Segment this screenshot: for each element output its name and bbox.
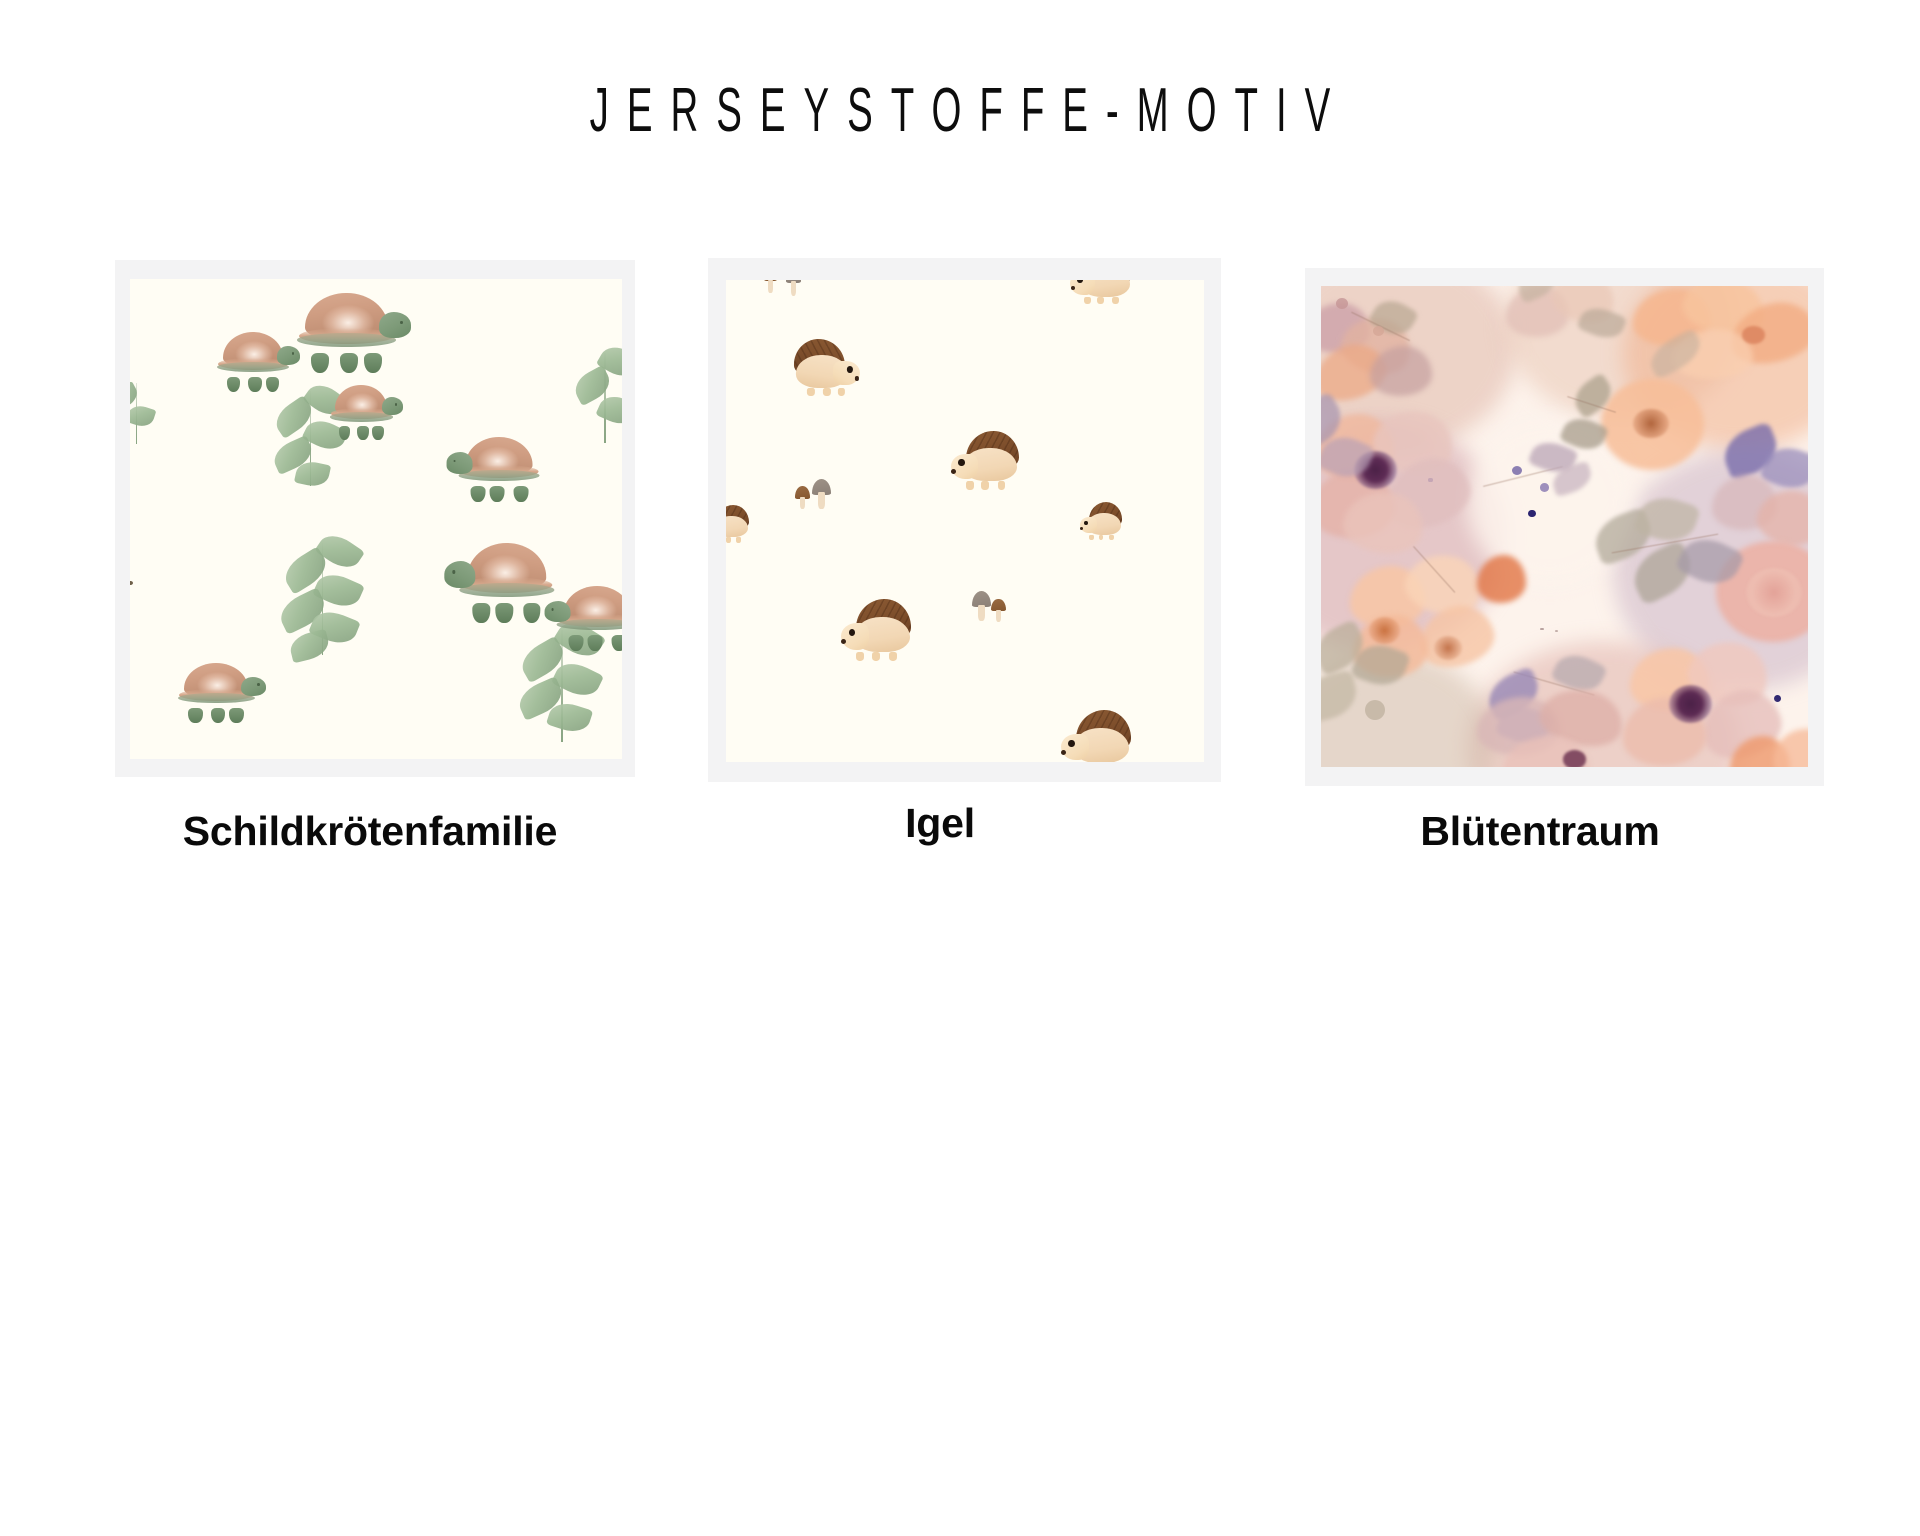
turtle-motif xyxy=(292,293,400,370)
hedgehog-motif xyxy=(793,338,860,396)
pattern-watercolor-hedgehogs xyxy=(726,280,1204,762)
pattern-watercolor-florals xyxy=(1321,286,1808,767)
swatch-image-schildkroetenfamilie xyxy=(130,279,622,759)
flower-cluster xyxy=(1506,286,1642,373)
flower-bud xyxy=(1477,555,1526,603)
paint-speck xyxy=(1428,478,1432,481)
hedgehog-motif xyxy=(841,598,913,661)
turtle-motif xyxy=(174,663,258,721)
swatch-image-bluetentraum xyxy=(1321,286,1808,767)
page-title: JERSEYSTOFFE-MOTIV xyxy=(365,78,1555,143)
swatch-tile-igel[interactable] xyxy=(708,258,1221,782)
swatch-label-bluetentraum: Blütentraum xyxy=(1160,808,1920,855)
swatch-tile-schildkroetenfamilie[interactable] xyxy=(115,260,635,777)
eucalyptus-sprig xyxy=(130,375,160,452)
anemone-flower xyxy=(1594,373,1711,479)
eucalyptus-leaf-group xyxy=(1321,623,1428,748)
swatch-tile-bluetentraum[interactable] xyxy=(1305,268,1824,786)
hedgehog-motif xyxy=(1070,280,1132,304)
pattern-watercolor-turtles xyxy=(130,279,622,759)
berry-dot xyxy=(1528,510,1536,518)
turtle-motif xyxy=(553,586,622,648)
swatch-image-igel xyxy=(726,280,1204,762)
eucalyptus-leaf-group xyxy=(1594,498,1740,623)
hedgehog-motif xyxy=(951,429,1020,489)
paint-speck xyxy=(1555,630,1558,632)
paint-speck xyxy=(1540,628,1543,630)
mushroom-motif xyxy=(786,280,801,294)
hedgehog-motif xyxy=(726,504,750,543)
swatch-label-igel: Igel xyxy=(700,800,1180,847)
hedgehog-motif xyxy=(1061,709,1133,762)
turtle-motif xyxy=(214,332,293,390)
swatch-label-schildkroetenfamilie: Schildkrötenfamilie xyxy=(0,808,740,855)
eucalyptus-sprig xyxy=(573,346,622,452)
turtle-motif xyxy=(455,543,558,620)
flower-cluster xyxy=(1730,729,1808,767)
mushroom-motif xyxy=(991,599,1005,621)
turtle-motif xyxy=(327,385,396,438)
page-root: JERSEYSTOFFE-MOTIV xyxy=(0,0,1920,1536)
mushroom-motif xyxy=(795,486,809,508)
turtle-motif xyxy=(455,437,544,499)
mushroom-motif xyxy=(972,591,991,620)
eucalyptus-sprig xyxy=(273,538,371,663)
ink-dot xyxy=(130,581,133,585)
mushroom-motif xyxy=(812,479,831,508)
eucalyptus-leaf-group xyxy=(1321,401,1379,507)
mushroom-motif xyxy=(764,280,776,292)
hedgehog-motif xyxy=(1080,502,1123,541)
peony-flower xyxy=(1477,690,1643,767)
